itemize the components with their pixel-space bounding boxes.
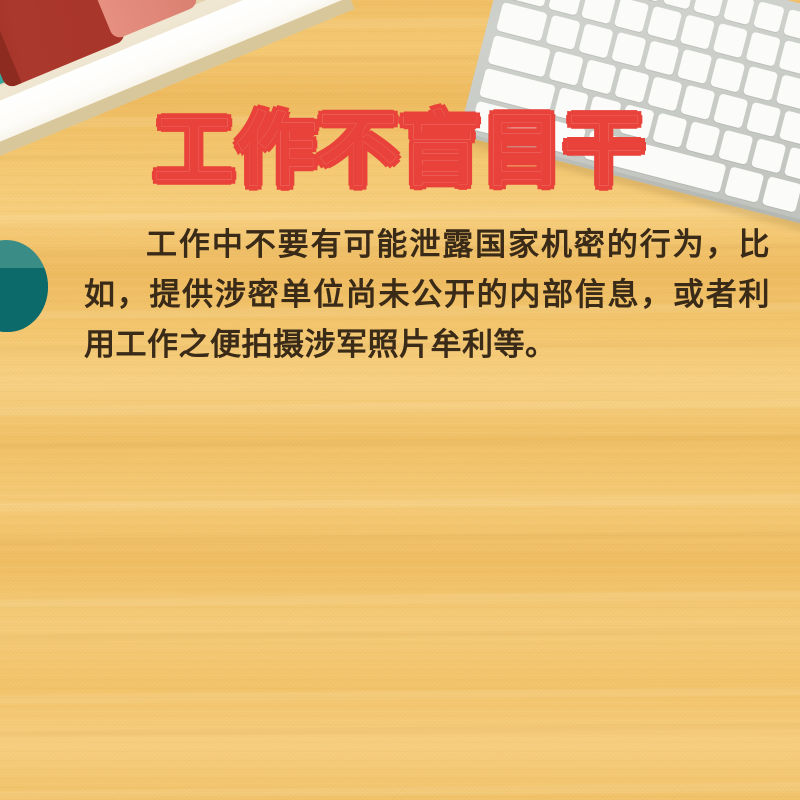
keyboard-key <box>496 2 548 42</box>
keyboard-key <box>753 1 785 33</box>
keyboard-key <box>743 66 778 101</box>
keyboard-key <box>578 23 613 58</box>
keyboard-key <box>693 0 725 17</box>
keyboard-key <box>611 32 646 67</box>
keyboard-key <box>783 9 800 41</box>
keyboard-key <box>710 57 745 92</box>
keyboard-key <box>713 23 748 58</box>
keyboard-key <box>778 40 800 75</box>
keyboard-key <box>723 0 755 25</box>
keyboard-key <box>581 59 616 94</box>
keyboard-key <box>548 51 583 86</box>
body-paragraph: 工作中不要有可能泄露国家机密的行为，比如，提供涉密单位尚未公开的内部信息，或者利… <box>84 220 770 370</box>
keyboard-key <box>644 40 679 75</box>
keyboard-key <box>614 68 649 103</box>
keyboard-key <box>663 0 695 10</box>
teal-circle-blob-lower <box>0 268 48 332</box>
keyboard-key <box>647 6 682 41</box>
keyboard-key <box>545 15 580 50</box>
keyboard-key <box>548 0 583 16</box>
page-title: 工作不盲目干 <box>0 106 800 196</box>
keyboard-key <box>614 0 649 33</box>
keyboard-key <box>581 0 616 24</box>
keyboard-key <box>776 74 800 109</box>
keyboard-key <box>746 31 781 66</box>
keyboard-key <box>680 14 715 49</box>
keyboard-key <box>677 49 712 84</box>
poster-canvas: 工作不盲目干 工作中不要有可能泄露国家机密的行为，比如，提供涉密单位尚未公开的内… <box>0 0 800 800</box>
